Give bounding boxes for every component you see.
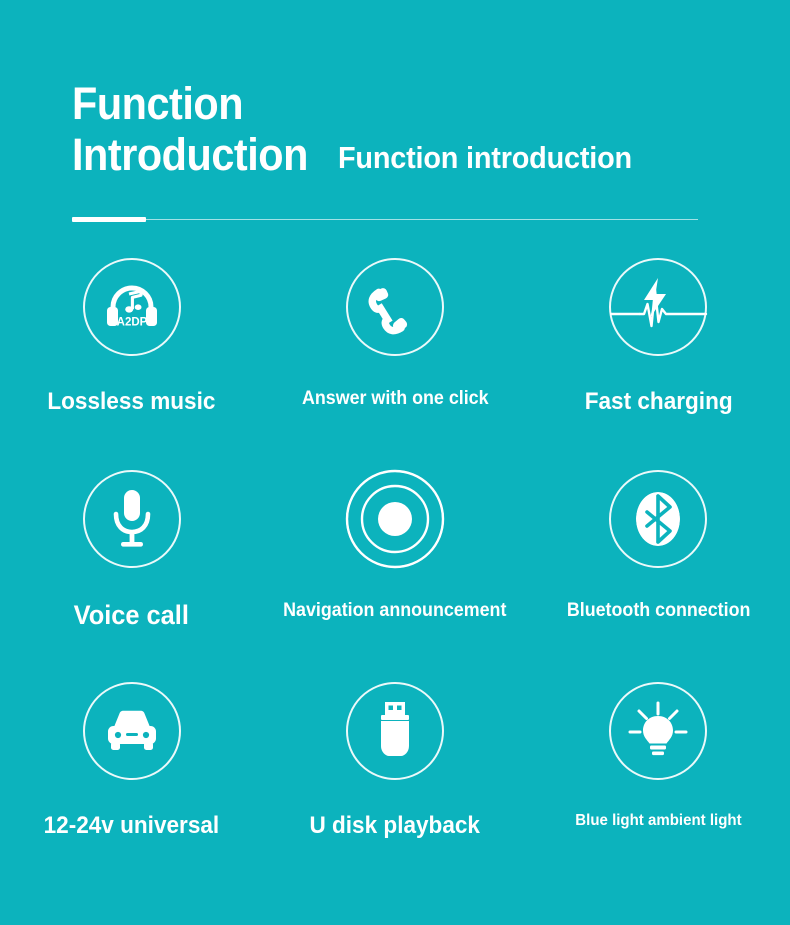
page-subtitle: Function introduction xyxy=(338,140,632,176)
lightning-pulse-icon xyxy=(610,276,706,338)
icon-circle xyxy=(346,682,444,780)
feature-label: U disk playback xyxy=(310,812,481,840)
feature-item-answer-one-click: Answer with one click xyxy=(263,258,526,470)
usb-flash-drive-icon xyxy=(373,700,417,762)
headphones-a2dp-icon: A2DP xyxy=(104,282,160,332)
light-bulb-icon xyxy=(626,701,690,761)
icon-circle xyxy=(346,470,444,568)
feature-item-bluetooth-connection: Bluetooth connection xyxy=(527,470,790,682)
feature-row: A2DP Lossless music xyxy=(0,258,790,470)
feature-label: Lossless music xyxy=(48,388,216,416)
divider-accent-bar xyxy=(72,217,146,222)
feature-item-blue-light-ambient: Blue light ambient light xyxy=(527,682,790,894)
icon-circle xyxy=(83,470,181,568)
header-divider xyxy=(72,217,698,222)
car-front-icon xyxy=(102,709,162,753)
page-title: Function Introduction xyxy=(72,78,308,180)
feature-item-12-24v-universal: 12-24v universal xyxy=(0,682,263,894)
microphone-icon xyxy=(109,488,155,550)
feature-label: Answer with one click xyxy=(302,388,489,410)
feature-label: Bluetooth connection xyxy=(567,600,751,622)
feature-row: 12-24v universal U disk playback xyxy=(0,682,790,894)
feature-label: Fast charging xyxy=(584,388,732,416)
feature-label: 12-24v universal xyxy=(44,812,220,840)
feature-grid: A2DP Lossless music xyxy=(0,258,790,894)
feature-item-u-disk-playback: U disk playback xyxy=(263,682,526,894)
telephone-handset-icon xyxy=(369,280,421,334)
icon-circle xyxy=(609,470,707,568)
bluetooth-icon xyxy=(632,488,684,550)
feature-item-voice-call: Voice call xyxy=(0,470,263,682)
icon-circle xyxy=(609,682,707,780)
divider-thin-line xyxy=(72,219,698,220)
icon-circle xyxy=(609,258,707,356)
a2dp-label: A2DP xyxy=(116,317,147,329)
header: Function Introduction Function introduct… xyxy=(72,78,718,180)
feature-label: Navigation announcement xyxy=(283,600,506,622)
feature-item-fast-charging: Fast charging xyxy=(527,258,790,470)
icon-circle xyxy=(346,258,444,356)
icon-circle: A2DP xyxy=(83,258,181,356)
title-block: Function Introduction Function introduct… xyxy=(72,78,718,180)
signal-rings-icon xyxy=(345,469,445,569)
function-introduction-page: Function Introduction Function introduct… xyxy=(0,0,790,925)
feature-label: Blue light ambient light xyxy=(575,812,741,830)
feature-row: Voice call Navigation announcement xyxy=(0,470,790,682)
feature-label: Voice call xyxy=(74,600,189,631)
feature-item-lossless-music: A2DP Lossless music xyxy=(0,258,263,470)
icon-circle xyxy=(83,682,181,780)
feature-item-navigation-announcement: Navigation announcement xyxy=(263,470,526,682)
